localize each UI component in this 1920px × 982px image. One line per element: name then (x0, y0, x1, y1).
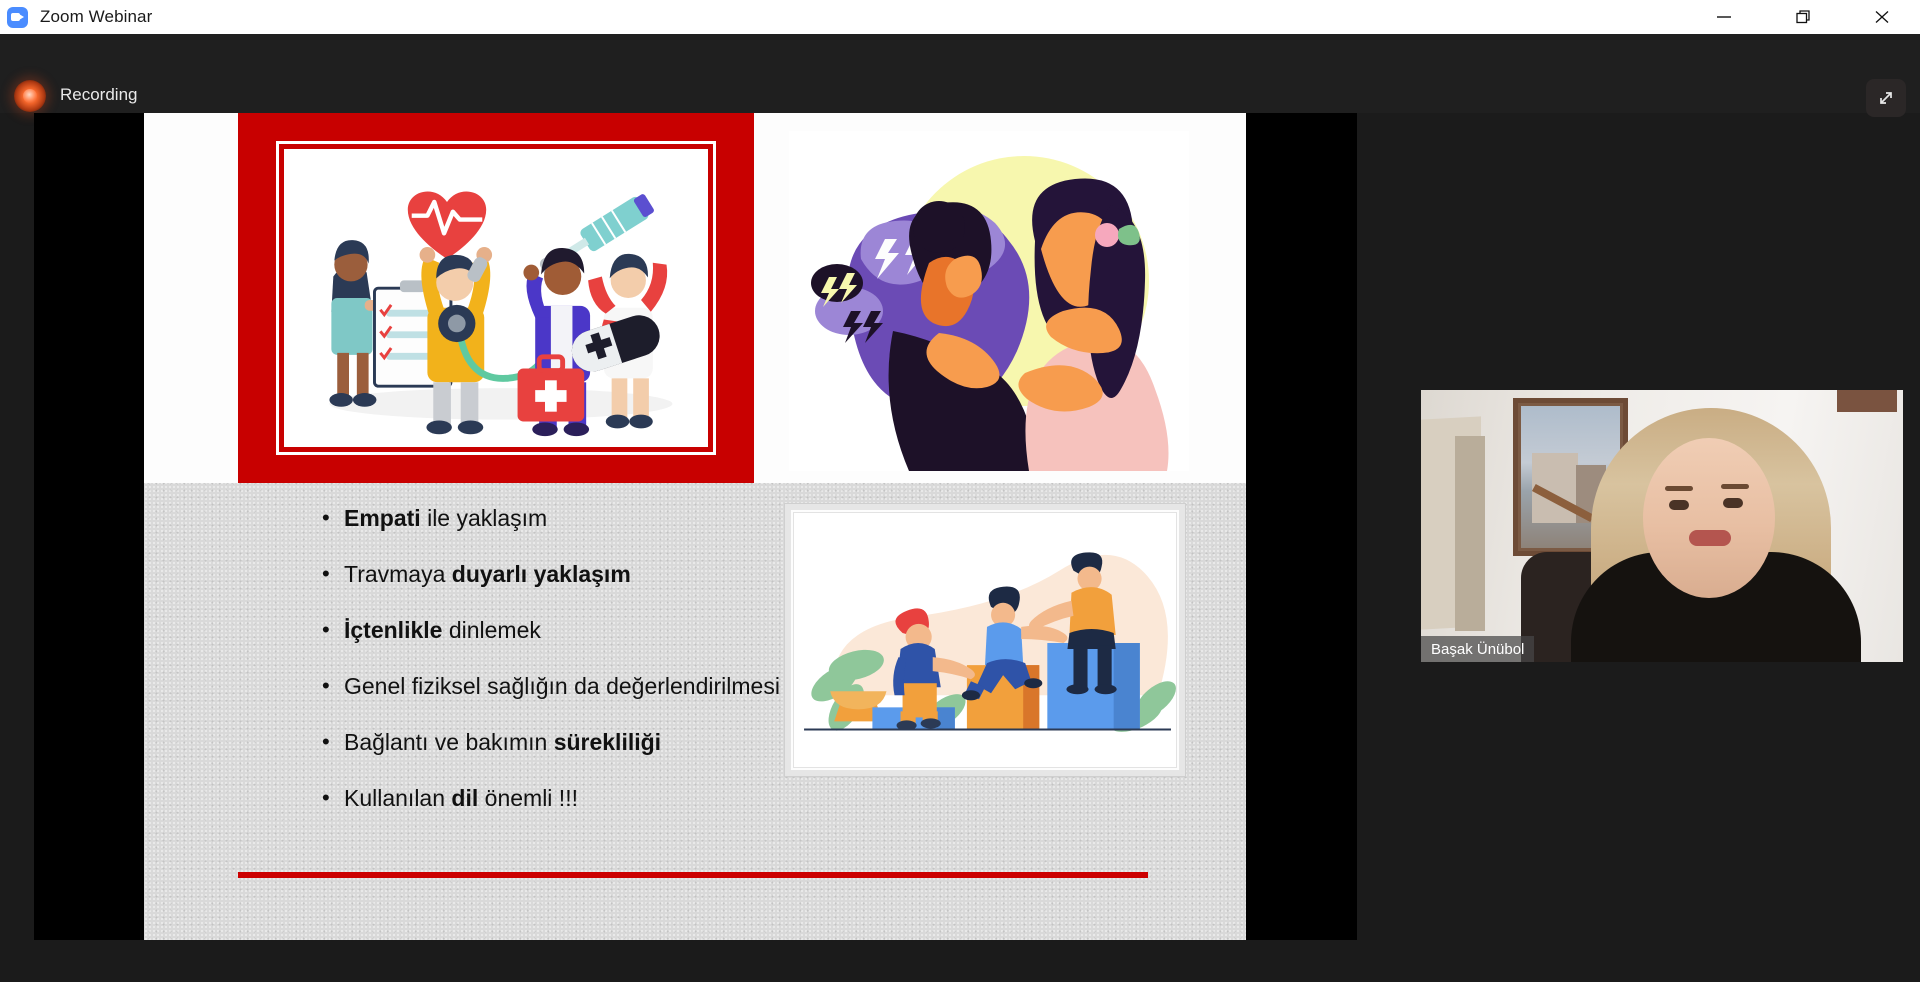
bullet-text-5: Bağlantı ve bakımın sürekliliği (344, 727, 661, 757)
meeting-toolbar: Recording (0, 34, 1920, 113)
video-shelf-edge (1455, 436, 1485, 631)
participant-eye-right (1723, 498, 1743, 508)
restore-icon[interactable] (1776, 0, 1832, 34)
expand-diagonal-icon[interactable] (1866, 79, 1906, 117)
bullet-marker: • (322, 559, 344, 589)
medical-team-illustration-panel (238, 113, 754, 483)
list-item: • Travmaya duyarlı yaklaşım (322, 559, 782, 589)
bullet-marker: • (322, 671, 344, 701)
list-item: • Kullanılan dil önemli !!! (322, 783, 782, 813)
empathy-illustration (789, 131, 1189, 471)
slide-bullet-list: • Empati ile yaklaşım • Travmaya duyarlı… (322, 503, 782, 839)
participant-eye-left (1669, 500, 1689, 510)
bullet-text-4: Genel fiziksel sağlığın da değerlendiril… (344, 671, 780, 701)
teamwork-illustration (784, 503, 1186, 777)
zoom-webinar-window: Zoom Webinar Recording (0, 0, 1920, 982)
list-item: • Empati ile yaklaşım (322, 503, 782, 533)
title-bar: Zoom Webinar (0, 0, 1920, 34)
slide-accent-rule (238, 872, 1148, 878)
shared-screen-area: • Empati ile yaklaşım • Travmaya duyarlı… (34, 113, 1357, 940)
bullet-marker: • (322, 727, 344, 757)
minimize-icon[interactable] (1696, 0, 1752, 34)
bullet-text-6: Kullanılan dil önemli !!! (344, 783, 578, 813)
list-item: • Bağlantı ve bakımın sürekliliği (322, 727, 782, 757)
recording-dot-icon (14, 80, 46, 112)
bullet-marker: • (322, 503, 344, 533)
bullet-text-1: Empati ile yaklaşım (344, 503, 547, 533)
list-item: • Genel fiziksel sağlığın da değerlendir… (322, 671, 782, 701)
presentation-slide: • Empati ile yaklaşım • Travmaya duyarlı… (144, 113, 1246, 940)
bullet-marker: • (322, 783, 344, 813)
zoom-logo-icon (7, 7, 28, 28)
bullet-text-3: İçtenlikle dinlemek (344, 615, 541, 645)
participant-mouth (1689, 530, 1731, 546)
participant-brow-left (1665, 486, 1693, 491)
participant-face (1643, 438, 1775, 598)
bullet-marker: • (322, 615, 344, 645)
recording-label: Recording (60, 85, 138, 105)
medical-team-illustration (286, 151, 706, 445)
close-icon[interactable] (1854, 0, 1910, 34)
window-title: Zoom Webinar (40, 7, 152, 27)
participant-brow-right (1721, 484, 1749, 489)
participant-name-label: Başak Ünübol (1421, 636, 1534, 662)
wall-painting-secondary (1837, 390, 1897, 412)
bullet-text-2: Travmaya duyarlı yaklaşım (344, 559, 631, 589)
participant-video-tile[interactable]: Başak Ünübol (1421, 390, 1903, 662)
list-item: • İçtenlikle dinlemek (322, 615, 782, 645)
